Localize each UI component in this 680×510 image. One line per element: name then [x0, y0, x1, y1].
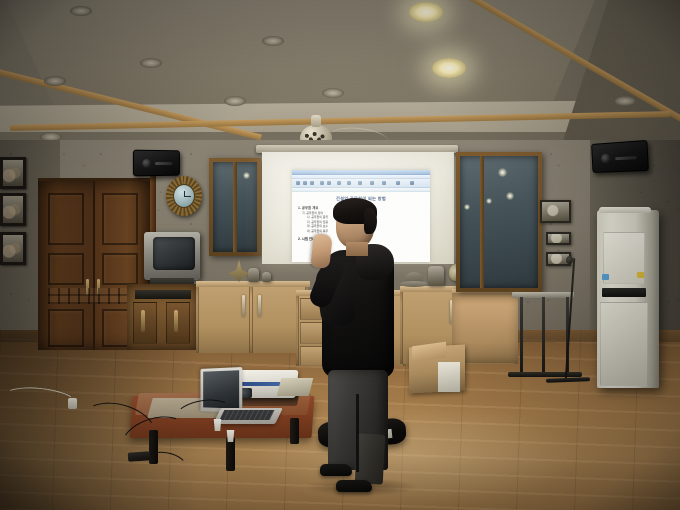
table-leg-back-right: [290, 418, 299, 444]
door-center-seam: [93, 181, 95, 350]
door-panel-lower-left: [48, 309, 84, 347]
av-receiver: [135, 290, 191, 299]
light-reflection: [243, 172, 250, 179]
downlight-7-lit: [409, 2, 443, 22]
speaker-cone-icon: [601, 154, 611, 164]
clock-hand-minute: [184, 196, 191, 197]
toolbar-icon-5: [327, 181, 331, 185]
wall-speaker-left: [133, 150, 180, 177]
presenter-shoe-left: [320, 464, 352, 476]
downlight-8-lit: [432, 58, 466, 78]
door-panel-upper-right: [102, 193, 138, 245]
wall-speaker-right: [591, 140, 649, 173]
presenter-neck: [346, 242, 368, 256]
window-mullion: [233, 162, 237, 252]
sunburst-wall-clock: [166, 176, 202, 216]
toolbar-icon-3: [310, 181, 314, 185]
presenter-trouser-seam: [356, 394, 359, 472]
wall-plug: [68, 398, 77, 409]
presenter: [300, 198, 410, 493]
photo-image: [3, 196, 23, 223]
window-right-pane: [460, 156, 538, 288]
window-left: [209, 158, 261, 256]
toolbar-icon-6: [337, 181, 341, 185]
tv-cabinet-handle-right[interactable]: [174, 310, 178, 332]
tv-cabinet-door-right[interactable]: [166, 302, 190, 344]
toolbar-icon-8: [358, 181, 362, 185]
framed-photo-2: [0, 193, 26, 226]
light-reflection-1: [498, 168, 507, 177]
downlight-3: [140, 58, 162, 68]
tv-screen: [153, 237, 195, 270]
toolbar-icon-7: [347, 181, 351, 185]
toolbar-icon-9: [370, 181, 374, 185]
photo-image: [3, 235, 23, 262]
light-reflection-2: [506, 192, 514, 200]
cabinet-left-handle-1[interactable]: [242, 295, 245, 317]
ac-top-cap: [599, 207, 651, 213]
document-toolbar: [292, 179, 430, 188]
toolbar-icon-4: [320, 181, 324, 185]
window-left-pane: [213, 162, 257, 252]
ac-lower-body: [600, 302, 648, 386]
presenter-shoe-right: [336, 480, 372, 492]
clock-face: [173, 184, 195, 208]
tv-cabinet-handle-left[interactable]: [141, 310, 145, 332]
toolbar-icon-11: [396, 181, 400, 185]
toolbar-icon-12: [410, 181, 414, 185]
window-right: [456, 152, 542, 292]
door-panel-mid-right: [102, 253, 138, 285]
door-panel-upper-left: [48, 193, 84, 245]
downlight-1: [70, 6, 92, 16]
door-panel-mid-left: [48, 253, 84, 285]
framed-picture-large: [540, 200, 571, 223]
pottery-vase-1: [248, 268, 259, 282]
window-mullion-right: [480, 156, 484, 288]
photo-image: [3, 160, 23, 186]
crt-television: [144, 232, 200, 280]
downlight-2: [44, 76, 66, 86]
presenter-hair-side: [364, 208, 377, 234]
downlight-4: [262, 36, 284, 46]
speaker-cone-icon: [142, 159, 151, 168]
light-reflection-3: [486, 198, 492, 204]
framed-photo-3: [0, 232, 26, 265]
white-box: [438, 362, 460, 392]
ac-sticker-yellow: [637, 272, 644, 278]
speaker-port: [615, 156, 637, 160]
ac-sticker-blue: [602, 274, 609, 280]
presenter-leg-right: [355, 433, 386, 484]
speaker-port: [155, 162, 172, 165]
power-strip: [128, 451, 151, 462]
cabinet-left: [196, 287, 308, 353]
toolbar-icon-10: [382, 181, 386, 185]
ac-air-vent: [602, 288, 646, 297]
tv-cabinet-door-left[interactable]: [133, 302, 157, 344]
picture-image: [542, 202, 569, 221]
table-leg-front-right: [226, 437, 235, 471]
pottery-vase-2: [262, 272, 271, 282]
picture-image: [548, 234, 569, 243]
downlight-6: [322, 88, 344, 98]
downlight-9: [614, 96, 636, 106]
cart-leg-left: [520, 297, 523, 373]
framed-photo-1: [0, 157, 26, 189]
equipment-cart-base: [508, 372, 582, 377]
toolbar-icon-1: [296, 181, 300, 185]
standing-air-conditioner: [597, 210, 659, 388]
light-reflection-4: [464, 204, 470, 210]
downlight-5: [224, 96, 246, 106]
cabinet-left-handle-2[interactable]: [258, 295, 261, 317]
photograph-scene: 건설업 공무원이 되는 방법 1. 공무원 개요 가. 공무원의 정의 나. 공…: [0, 0, 680, 510]
cart-leg-center: [542, 297, 545, 373]
presenter-raised-hand: [310, 233, 332, 269]
toolbar-icon-2: [303, 181, 307, 185]
framed-picture-small-1: [546, 232, 571, 245]
pottery-vase-3: [428, 266, 444, 286]
